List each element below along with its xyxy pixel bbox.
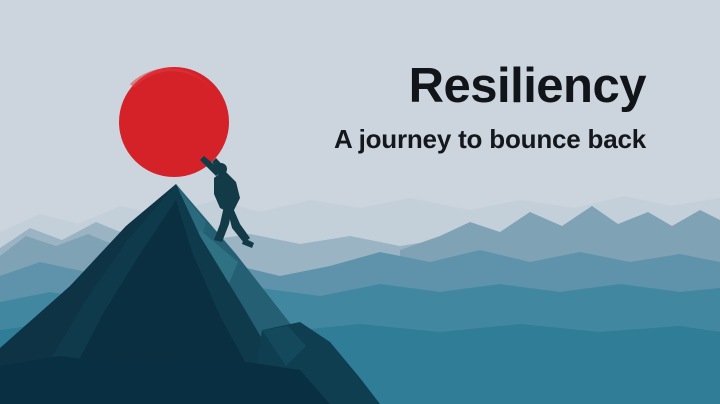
slide-canvas: Resiliency A journey to bounce back: [0, 0, 720, 404]
mountain-illustration: [0, 0, 720, 404]
